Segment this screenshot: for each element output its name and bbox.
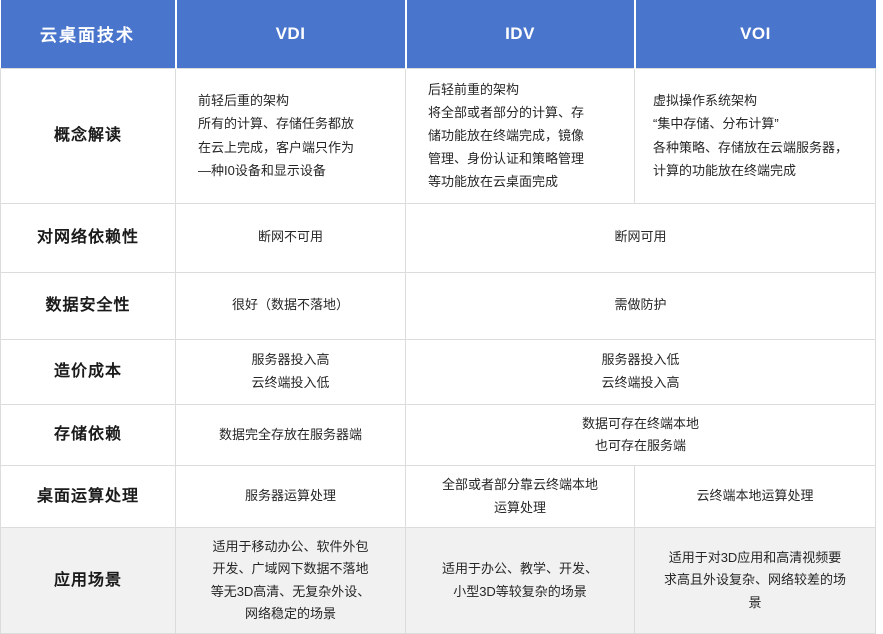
cell-concept-voi: 虚拟操作系统架构“集中存储、分布计算”各种策略、存储放在云端服务器，计算的功能放…	[635, 68, 876, 203]
cell-text-lines: 数据完全存放在服务器端	[186, 424, 395, 446]
table-row: 造价成本 服务器投入高云终端投入低 服务器投入低云终端投入高	[1, 339, 876, 404]
cell-concept-vdi: 前轻后重的架构所有的计算、存储任务都放在云上完成，客户端只作为—种I0设备和显示…	[176, 68, 406, 203]
cell-text-line: 数据可存在终端本地	[416, 413, 865, 435]
table-row: 存储依赖 数据完全存放在服务器端 数据可存在终端本地也可存在服务端	[1, 404, 876, 466]
cell-text-line: “集中存储、分布计算”	[653, 112, 861, 135]
cell-compute-idv: 全部或者部分靠云终端本地运算处理	[406, 466, 635, 528]
cell-scenario-idv: 适用于办公、教学、开发、小型3D等较复杂的场景	[406, 527, 635, 633]
cell-text-line: 很好（数据不落地）	[186, 294, 395, 316]
cell-text-lines: 很好（数据不落地）	[186, 294, 395, 316]
cell-text-line: 云终端投入高	[416, 372, 865, 394]
table-body: 概念解读 前轻后重的架构所有的计算、存储任务都放在云上完成，客户端只作为—种I0…	[1, 68, 876, 634]
row-label-cost: 造价成本	[1, 339, 176, 404]
row-label-storage-dependency: 存储依赖	[1, 404, 176, 466]
cell-text-line: 云终端投入低	[186, 372, 395, 394]
cell-text-line: 管理、身份认证和策略管理	[428, 147, 620, 170]
table-row: 桌面运算处理 服务器运算处理 全部或者部分靠云终端本地运算处理 云终端本地运算处…	[1, 466, 876, 528]
cell-text-line: 求高且外设复杂、网络较差的场	[645, 569, 865, 591]
row-label-concept: 概念解读	[1, 68, 176, 203]
table-header-row: 云桌面技术 VDI IDV VOI	[1, 0, 876, 68]
cell-text-line: 所有的计算、存储任务都放	[198, 112, 391, 135]
cell-text-lines: 断网不可用	[186, 226, 395, 248]
cell-text-line: 断网可用	[416, 226, 865, 248]
column-header-voi: VOI	[635, 0, 876, 68]
cell-text-line: 等无3D高清、无复杂外设、	[186, 581, 395, 603]
cell-text-line: 数据完全存放在服务器端	[186, 424, 395, 446]
cell-text-lines: 断网可用	[416, 226, 865, 248]
cell-text-lines: 服务器投入高云终端投入低	[186, 349, 395, 394]
cell-text-lines: 需做防护	[416, 294, 865, 316]
cell-text-line: 后轻前重的架构	[428, 78, 620, 101]
cell-text-lines: 全部或者部分靠云终端本地运算处理	[416, 474, 624, 519]
cell-compute-voi: 云终端本地运算处理	[635, 466, 876, 528]
cell-security-idv-voi-merged: 需做防护	[406, 272, 876, 339]
cell-text-line: 储功能放在终端完成，镜像	[428, 124, 620, 147]
cell-text-lines: 服务器投入低云终端投入高	[416, 349, 865, 394]
cell-text-line: 计算的功能放在终端完成	[653, 159, 861, 182]
cell-cost-vdi: 服务器投入高云终端投入低	[176, 339, 406, 404]
cell-text-line: 网络稳定的场景	[186, 603, 395, 625]
row-label-network-dependency: 对网络依赖性	[1, 203, 176, 272]
cell-text-line: 等功能放在云桌面完成	[428, 170, 620, 193]
cell-storage-vdi: 数据完全存放在服务器端	[176, 404, 406, 466]
cell-text-lines: 适用于对3D应用和高清视频要求高且外设复杂、网络较差的场景	[645, 547, 865, 614]
column-header-vdi: VDI	[176, 0, 406, 68]
cell-network-idv-voi-merged: 断网可用	[406, 203, 876, 272]
cell-text-line: 需做防护	[416, 294, 865, 316]
cell-text-lines: 后轻前重的架构将全部或者部分的计算、存储功能放在终端完成，镜像管理、身份认证和策…	[428, 78, 620, 194]
row-label-desktop-computation: 桌面运算处理	[1, 466, 176, 528]
cell-text-line: 服务器运算处理	[186, 485, 395, 507]
cell-text-line: 开发、广域网下数据不落地	[186, 558, 395, 580]
cell-text-lines: 服务器运算处理	[186, 485, 395, 507]
table-header: 云桌面技术 VDI IDV VOI	[1, 0, 876, 68]
cell-text-line: 全部或者部分靠云终端本地	[416, 474, 624, 496]
table-row: 数据安全性 很好（数据不落地） 需做防护	[1, 272, 876, 339]
cell-text-lines: 云终端本地运算处理	[645, 485, 865, 507]
table-row: 对网络依赖性 断网不可用 断网可用	[1, 203, 876, 272]
cell-text-line: 服务器投入高	[186, 349, 395, 371]
cell-text-line: 适用于办公、教学、开发、	[416, 558, 624, 580]
cell-scenario-voi: 适用于对3D应用和高清视频要求高且外设复杂、网络较差的场景	[635, 527, 876, 633]
column-header-attribute: 云桌面技术	[1, 0, 176, 68]
table-row: 应用场景 适用于移动办公、软件外包开发、广域网下数据不落地等无3D高清、无复杂外…	[1, 527, 876, 633]
cell-text-line: 运算处理	[416, 497, 624, 519]
row-label-application-scenario: 应用场景	[1, 527, 176, 633]
cell-text-line: 虚拟操作系统架构	[653, 89, 861, 112]
cell-concept-idv: 后轻前重的架构将全部或者部分的计算、存储功能放在终端完成，镜像管理、身份认证和策…	[406, 68, 635, 203]
cell-text-line: 断网不可用	[186, 226, 395, 248]
cell-text-lines: 前轻后重的架构所有的计算、存储任务都放在云上完成，客户端只作为—种I0设备和显示…	[198, 89, 391, 182]
column-header-idv: IDV	[406, 0, 635, 68]
cell-compute-vdi: 服务器运算处理	[176, 466, 406, 528]
cell-text-lines: 适用于办公、教学、开发、小型3D等较复杂的场景	[416, 558, 624, 603]
cell-text-line: 适用于对3D应用和高清视频要	[645, 547, 865, 569]
cell-cost-idv-voi-merged: 服务器投入低云终端投入高	[406, 339, 876, 404]
cell-text-lines: 虚拟操作系统架构“集中存储、分布计算”各种策略、存储放在云端服务器，计算的功能放…	[653, 89, 861, 182]
cell-text-line: 各种策略、存储放在云端服务器，	[653, 136, 861, 159]
cloud-desktop-comparison-table: 云桌面技术 VDI IDV VOI 概念解读 前轻后重的架构所有的计算、存储任务…	[0, 0, 876, 634]
cell-text-line: 也可存在服务端	[416, 435, 865, 457]
cell-text-lines: 适用于移动办公、软件外包开发、广域网下数据不落地等无3D高清、无复杂外设、网络稳…	[186, 536, 395, 625]
cell-network-vdi: 断网不可用	[176, 203, 406, 272]
cell-scenario-vdi: 适用于移动办公、软件外包开发、广域网下数据不落地等无3D高清、无复杂外设、网络稳…	[176, 527, 406, 633]
cell-text-line: 适用于移动办公、软件外包	[186, 536, 395, 558]
cell-text-line: 将全部或者部分的计算、存	[428, 101, 620, 124]
cell-text-lines: 数据可存在终端本地也可存在服务端	[416, 413, 865, 458]
cell-text-line: 云终端本地运算处理	[645, 485, 865, 507]
cell-text-line: 前轻后重的架构	[198, 89, 391, 112]
cell-security-vdi: 很好（数据不落地）	[176, 272, 406, 339]
row-label-data-security: 数据安全性	[1, 272, 176, 339]
table-row: 概念解读 前轻后重的架构所有的计算、存储任务都放在云上完成，客户端只作为—种I0…	[1, 68, 876, 203]
cell-storage-idv-voi-merged: 数据可存在终端本地也可存在服务端	[406, 404, 876, 466]
comparison-table-container: 云桌面技术 VDI IDV VOI 概念解读 前轻后重的架构所有的计算、存储任务…	[0, 0, 875, 611]
cell-text-line: 在云上完成，客户端只作为	[198, 136, 391, 159]
cell-text-line: —种I0设备和显示设备	[198, 159, 391, 182]
cell-text-line: 服务器投入低	[416, 349, 865, 371]
cell-text-line: 小型3D等较复杂的场景	[416, 581, 624, 603]
